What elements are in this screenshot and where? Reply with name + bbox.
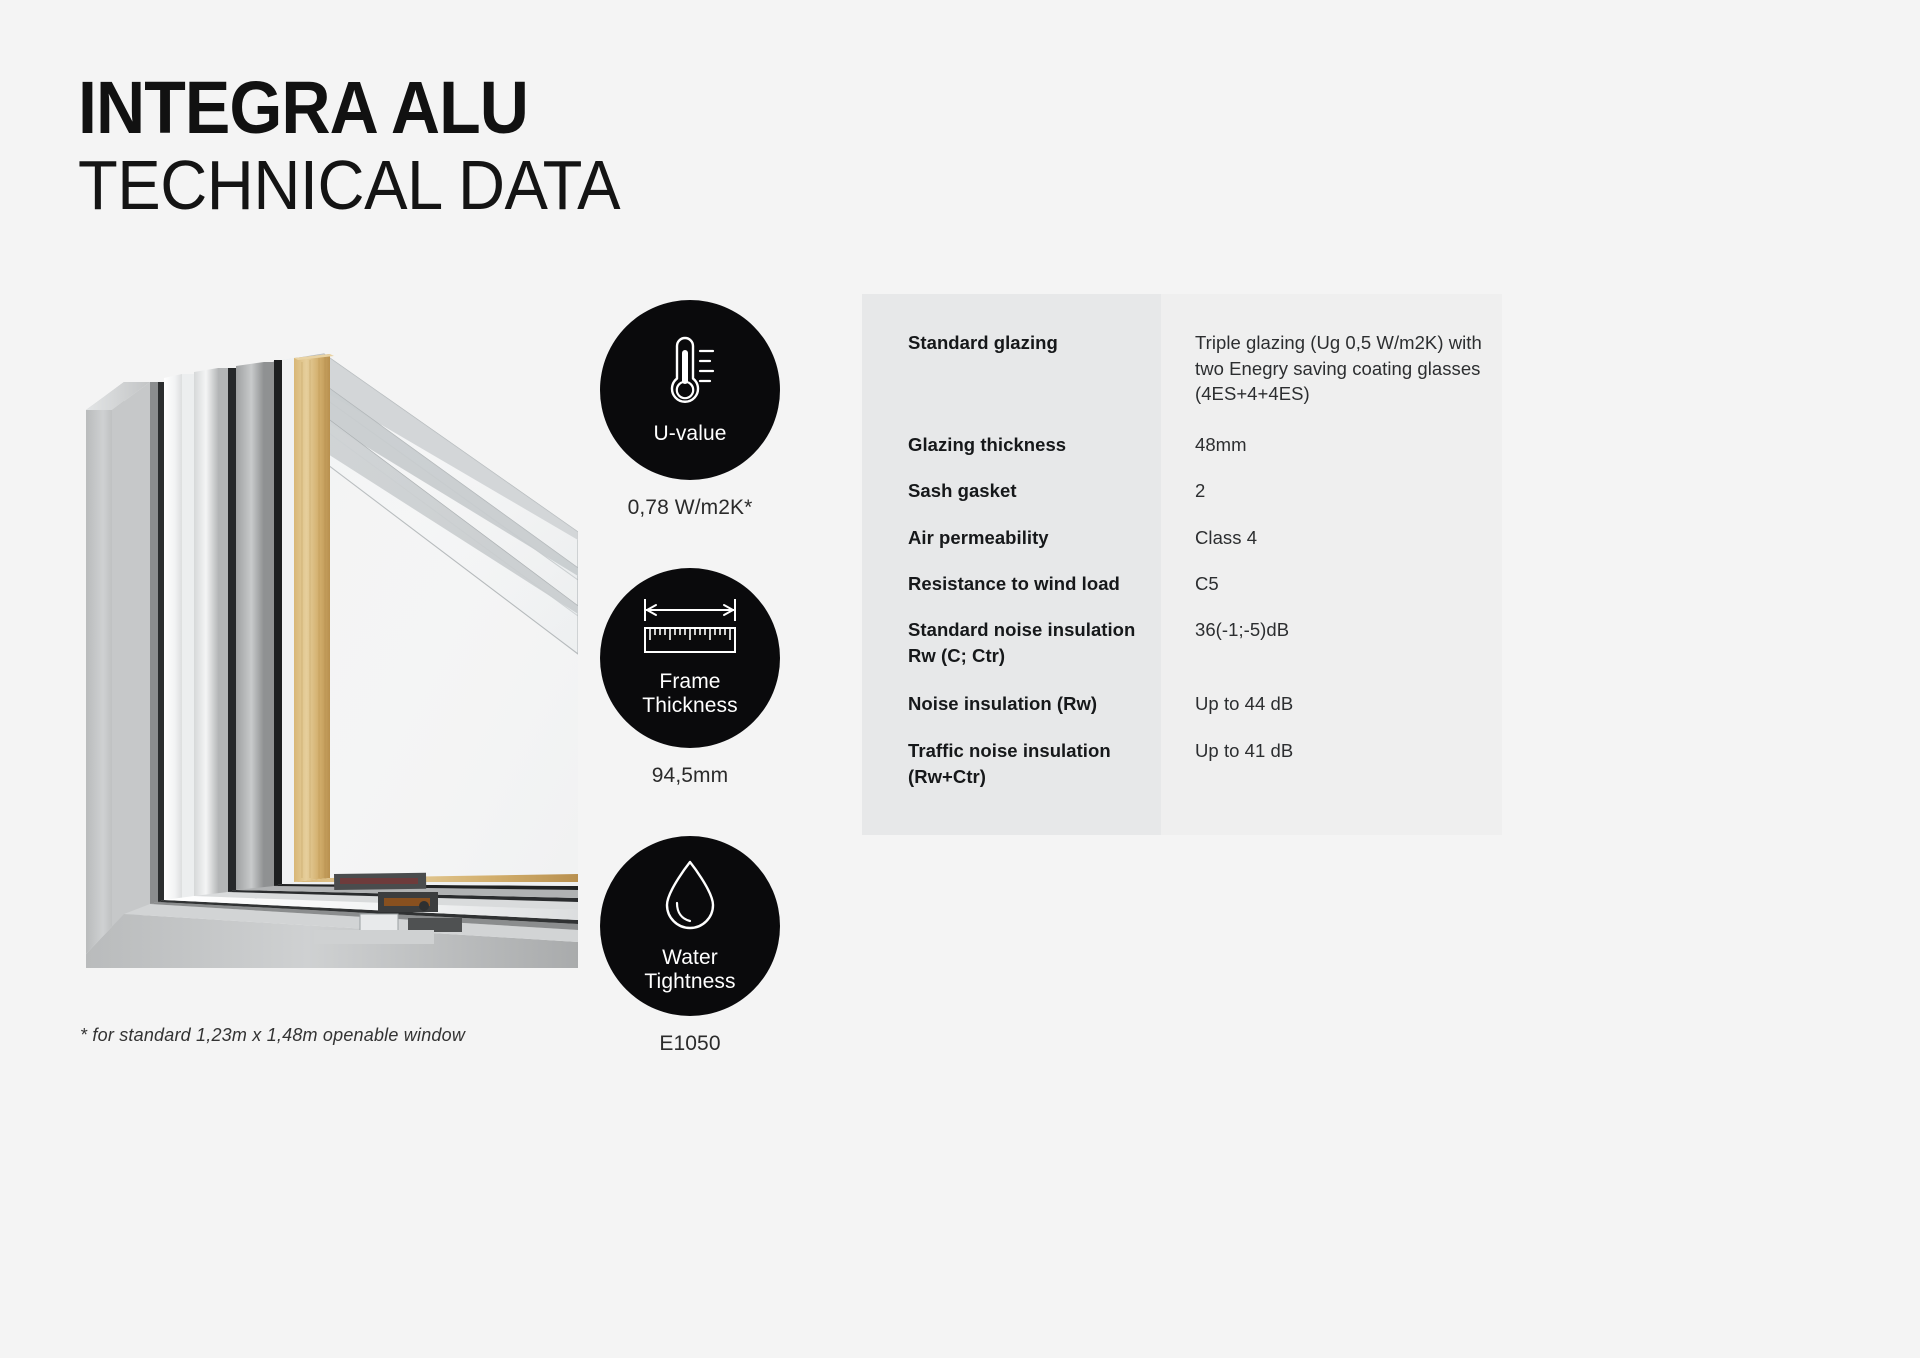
spec-label: Resistance to wind load [908, 571, 1161, 597]
badge-water-tightness-label: WaterTightness [644, 946, 735, 993]
product-name: INTEGRA ALU [78, 72, 614, 145]
spec-row: Up to 41 dB [1195, 738, 1502, 764]
badge-frame-thickness-label-line2: Thickness [642, 694, 737, 717]
badge-water-tightness-label-line1: Water [662, 946, 718, 969]
spec-row: Standard glazing [908, 330, 1161, 432]
spec-row: Triple glazing (Ug 0,5 W/m2K) with two E… [1195, 330, 1502, 432]
spec-label: Standard glazing [908, 330, 1161, 356]
spec-label: Air permeability [908, 525, 1161, 551]
badge-frame-thickness-value: 94,5mm [595, 764, 785, 788]
frame-profile [86, 354, 334, 954]
spec-table: Standard glazing Glazing thickness Sash … [862, 294, 1502, 835]
spec-row: Class 4 [1195, 525, 1502, 571]
spec-row: 36(-1;-5)dB [1195, 617, 1502, 691]
spec-label: Glazing thickness [908, 432, 1161, 458]
spec-row: 2 [1195, 478, 1502, 525]
badge-water-tightness-label-line2: Tightness [644, 970, 735, 993]
thermometer-icon [658, 334, 722, 413]
badge-frame-thickness-label-line1: Frame [659, 670, 720, 693]
spec-row: Traffic noise insulation (Rw+Ctr) [908, 738, 1161, 789]
badge-water-tightness-circle: WaterTightness [600, 836, 780, 1016]
product-image [78, 318, 578, 968]
spec-label-column: Standard glazing Glazing thickness Sash … [862, 294, 1161, 835]
spec-value: 2 [1195, 478, 1502, 504]
spec-label: Traffic noise insulation (Rw+Ctr) [908, 738, 1161, 789]
spec-row: Glazing thickness [908, 432, 1161, 478]
spec-value: 36(-1;-5)dB [1195, 617, 1502, 643]
spec-row: 48mm [1195, 432, 1502, 478]
footnote: * for standard 1,23m x 1,48m openable wi… [80, 1025, 465, 1046]
spec-value: Triple glazing (Ug 0,5 W/m2K) with two E… [1195, 330, 1502, 407]
feature-badges: U-value 0,78 W/m2K* [595, 300, 785, 1056]
spec-row: Resistance to wind load [908, 571, 1161, 617]
ruler-icon [642, 598, 738, 661]
spec-row: Up to 44 dB [1195, 691, 1502, 738]
spec-label: Noise insulation (Rw) [908, 691, 1161, 717]
spec-value: 48mm [1195, 432, 1502, 458]
badge-u-value: U-value 0,78 W/m2K* [595, 300, 785, 520]
spec-label: Sash gasket [908, 478, 1161, 504]
spec-row: Standard noise insulation Rw (C; Ctr) [908, 617, 1161, 691]
spec-value: Up to 41 dB [1195, 738, 1502, 764]
spec-value: Up to 44 dB [1195, 691, 1502, 717]
page-subtitle: TECHNICAL DATA [78, 149, 620, 223]
spec-row: Noise insulation (Rw) [908, 691, 1161, 738]
spec-value-column: Triple glazing (Ug 0,5 W/m2K) with two E… [1161, 294, 1502, 835]
badge-u-value-circle: U-value [600, 300, 780, 480]
water-drop-icon [661, 858, 719, 937]
badge-frame-thickness-label: FrameThickness [642, 670, 737, 717]
spec-row: Sash gasket [908, 478, 1161, 525]
badge-frame-thickness-circle: FrameThickness [600, 568, 780, 748]
badge-u-value-label: U-value [653, 422, 726, 446]
spec-value: Class 4 [1195, 525, 1502, 551]
page-title: INTEGRA ALU TECHNICAL DATA [78, 72, 661, 222]
badge-frame-thickness: FrameThickness 94,5mm [595, 568, 785, 788]
spec-row: C5 [1195, 571, 1502, 617]
spec-label: Standard noise insulation Rw (C; Ctr) [908, 617, 1161, 668]
technical-data-sheet: INTEGRA ALU TECHNICAL DATA [0, 0, 1920, 1358]
badge-water-tightness-value: E1050 [595, 1032, 785, 1056]
badge-u-value-value: 0,78 W/m2K* [595, 496, 785, 520]
spec-value: C5 [1195, 571, 1502, 597]
badge-water-tightness: WaterTightness E1050 [595, 836, 785, 1056]
spec-row: Air permeability [908, 525, 1161, 571]
